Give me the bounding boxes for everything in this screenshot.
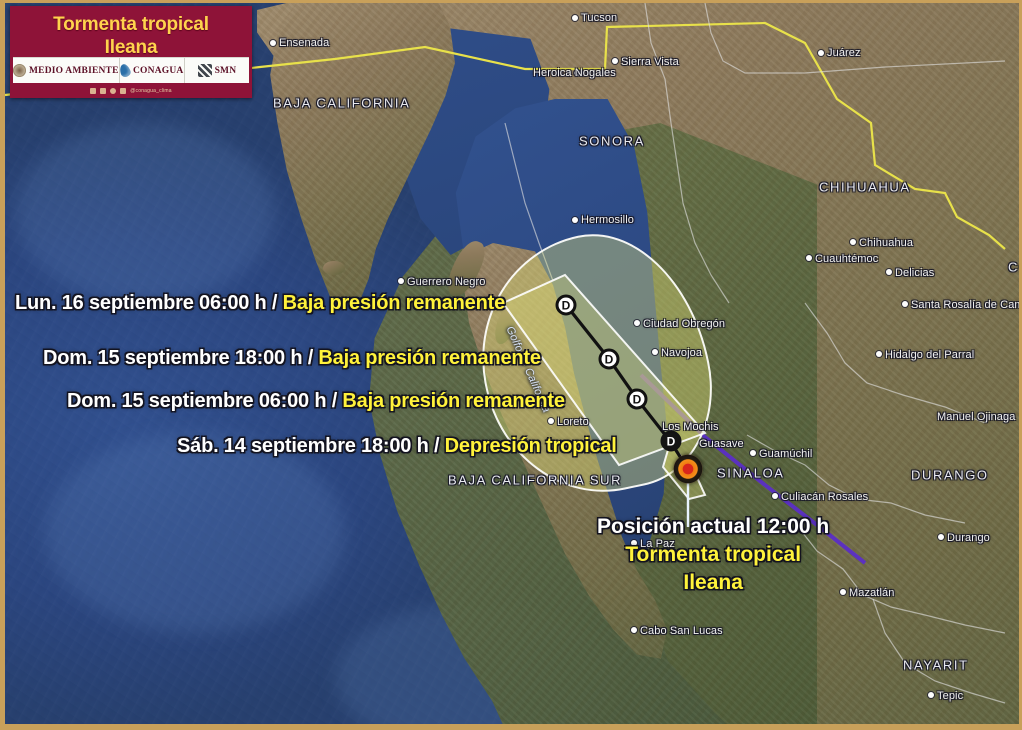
title-banner: Tormenta tropical Ileana MEDIO AMBIENTE … [10, 6, 252, 98]
city-dot [612, 58, 618, 64]
city-label-cabo-san-lucas: Cabo San Lucas [640, 625, 723, 637]
city-label-loreto: Loreto [557, 416, 589, 428]
facebook-icon[interactable] [90, 88, 96, 94]
city-label-guerrero-negro: Guerrero Negro [407, 276, 485, 288]
city-label-manuel-ojinaga: Manuel Ojinaga [937, 411, 1015, 423]
current-position-category: Tormenta tropical [597, 543, 829, 567]
smn-mark-icon [198, 64, 212, 77]
state-label-durango: DURANGO [911, 468, 989, 483]
city-dot [572, 217, 578, 223]
city-label-chihuahua-city: Chihuahua [859, 237, 913, 249]
city-dot [270, 40, 276, 46]
city-dot [902, 301, 908, 307]
forecast-time-2: Dom. 15 septiembre 18:00 h / [43, 347, 318, 369]
forecast-category-3: Baja presión remanente [342, 390, 564, 412]
city-dot [850, 239, 856, 245]
water-drop-icon [118, 63, 132, 78]
city-dot [818, 50, 824, 56]
state-label-nayarit: NAYARIT [903, 658, 969, 673]
current-position-name: Ileana [597, 571, 829, 595]
city-label-culiacan-rosales: Culiacán Rosales [781, 491, 868, 503]
track-marker-sun15-06[interactable]: D [627, 389, 648, 410]
city-label-ciudad-obregon: Ciudad Obregón [643, 318, 725, 330]
logo-medio-ambiente-label: MEDIO AMBIENTE [29, 66, 119, 76]
logo-conagua: CONAGUA [119, 58, 184, 83]
banner-title-line1: Tormenta tropical [18, 13, 244, 36]
logo-smn: SMN [184, 58, 249, 83]
city-label-sierra-vista: Sierra Vista [621, 56, 679, 68]
track-marker-mon16-06[interactable]: D [556, 295, 577, 316]
state-label-sonora: SONORA [579, 134, 645, 149]
current-position-marker[interactable] [673, 454, 703, 484]
state-label-coahuila: COA [1008, 260, 1019, 275]
city-label-los-mochis: Los Mochis [662, 421, 719, 433]
city-dot [652, 349, 658, 355]
banner-title: Tormenta tropical Ileana [10, 6, 252, 59]
city-dot [876, 351, 882, 357]
state-label-sinaloa: SINALOA [717, 466, 785, 481]
city-label-cuauhtemoc: Cuauhtémoc [815, 253, 878, 265]
current-position-callout: Posición actual 12:00 h Tormenta tropica… [597, 515, 829, 595]
logo-smn-label: SMN [215, 66, 237, 76]
track-marker-sun15-18[interactable]: D [599, 349, 620, 370]
forecast-time-4: Sáb. 14 septiembre 18:00 h / [177, 435, 445, 457]
forecast-time-1: Lun. 16 septiembre 06:00 h / [15, 292, 283, 314]
city-dot [840, 589, 846, 595]
forecast-category-1: Baja presión remanente [283, 292, 505, 314]
logo-conagua-label: CONAGUA [133, 66, 183, 76]
forecast-time-3: Dom. 15 septiembre 06:00 h / [67, 390, 342, 412]
city-label-hidalgo-del-parral: Hidalgo del Parral [885, 349, 974, 361]
forecast-category-4: Depresión tropical [445, 435, 617, 457]
city-label-santa-rosalia-de-camargo: Santa Rosalía de Cam [911, 299, 1019, 311]
state-label-baja-california-sur: BAJA CALIFORNIA SUR [448, 473, 622, 488]
track-marker-sat14-18[interactable]: D [661, 431, 682, 452]
storm-forecast-map: D D D D BAJA CALIFORNIA SONORA CHIHUAHUA… [0, 0, 1022, 730]
agency-logo-bar: MEDIO AMBIENTE CONAGUA SMN [13, 57, 249, 83]
forecast-row-3: Dom. 15 septiembre 06:00 h / Baja presió… [67, 390, 565, 413]
city-label-mazatlan: Mazatlán [849, 587, 894, 599]
city-dot [634, 320, 640, 326]
state-label-chihuahua: CHIHUAHUA [819, 180, 911, 195]
logo-medio-ambiente: MEDIO AMBIENTE [13, 58, 119, 83]
city-label-ensenada: Ensenada [279, 37, 329, 49]
twitter-icon[interactable] [100, 88, 106, 94]
forecast-row-2: Dom. 15 septiembre 18:00 h / Baja presió… [43, 347, 541, 370]
city-label-heroica-nogales: Heroica Nogales [533, 67, 616, 79]
city-dot [631, 627, 637, 633]
city-dot [772, 493, 778, 499]
banner-title-line2: Ileana [18, 36, 244, 59]
instagram-icon[interactable] [110, 88, 116, 94]
city-label-tepic: Tepic [937, 690, 963, 702]
city-dot [750, 450, 756, 456]
current-position-time: Posición actual 12:00 h [597, 515, 829, 539]
city-dot [938, 534, 944, 540]
city-label-navojoa: Navojoa [661, 347, 702, 359]
city-label-guasave: Guasave [699, 438, 744, 450]
forecast-category-2: Baja presión remanente [318, 347, 540, 369]
city-dot [928, 692, 934, 698]
city-dot [806, 255, 812, 261]
city-dot [398, 278, 404, 284]
city-label-delicias: Delicias [895, 267, 934, 279]
city-label-durango-city: Durango [947, 532, 990, 544]
city-dot [548, 418, 554, 424]
city-label-juarez: Juárez [827, 47, 861, 59]
forecast-row-4: Sáb. 14 septiembre 18:00 h / Depresión t… [177, 435, 617, 458]
national-seal-icon [13, 64, 26, 77]
city-label-hermosillo: Hermosillo [581, 214, 634, 226]
social-handle: @conagua_clima [130, 88, 172, 94]
social-media-bar: @conagua_clima [13, 84, 249, 97]
city-dot [572, 15, 578, 21]
city-label-tucson: Tucson [581, 12, 617, 24]
forecast-row-1: Lun. 16 septiembre 06:00 h / Baja presió… [15, 292, 505, 315]
city-dot [886, 269, 892, 275]
state-label-baja-california: BAJA CALIFORNIA [273, 96, 410, 111]
city-label-guamuchil: Guamúchil [759, 448, 812, 460]
youtube-icon[interactable] [120, 88, 126, 94]
